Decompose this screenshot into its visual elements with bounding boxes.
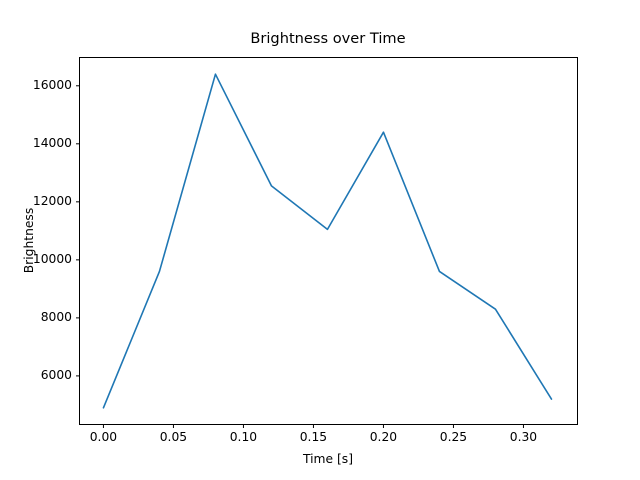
y-tick-label: 16000 bbox=[12, 78, 72, 92]
x-tick-label: 0.30 bbox=[498, 430, 548, 444]
x-axis-ticks bbox=[103, 425, 523, 429]
y-tick-label: 6000 bbox=[12, 368, 72, 382]
x-tick-label: 0.20 bbox=[358, 430, 408, 444]
y-tick-label: 8000 bbox=[12, 310, 72, 324]
x-tick-label: 0.15 bbox=[288, 430, 338, 444]
x-tick-label: 0.10 bbox=[218, 430, 268, 444]
x-tick-label: 0.05 bbox=[148, 430, 198, 444]
axes-frame bbox=[80, 58, 578, 425]
x-tick-label: 0.25 bbox=[428, 430, 478, 444]
x-tick-label: 0.00 bbox=[78, 430, 128, 444]
y-axis-ticks bbox=[76, 86, 80, 376]
figure-canvas: Brightness over Time Brightness Time [s]… bbox=[0, 0, 640, 480]
y-tick-label: 14000 bbox=[12, 136, 72, 150]
y-tick-label: 10000 bbox=[12, 252, 72, 266]
y-tick-label: 12000 bbox=[12, 194, 72, 208]
plot-area bbox=[0, 0, 640, 480]
